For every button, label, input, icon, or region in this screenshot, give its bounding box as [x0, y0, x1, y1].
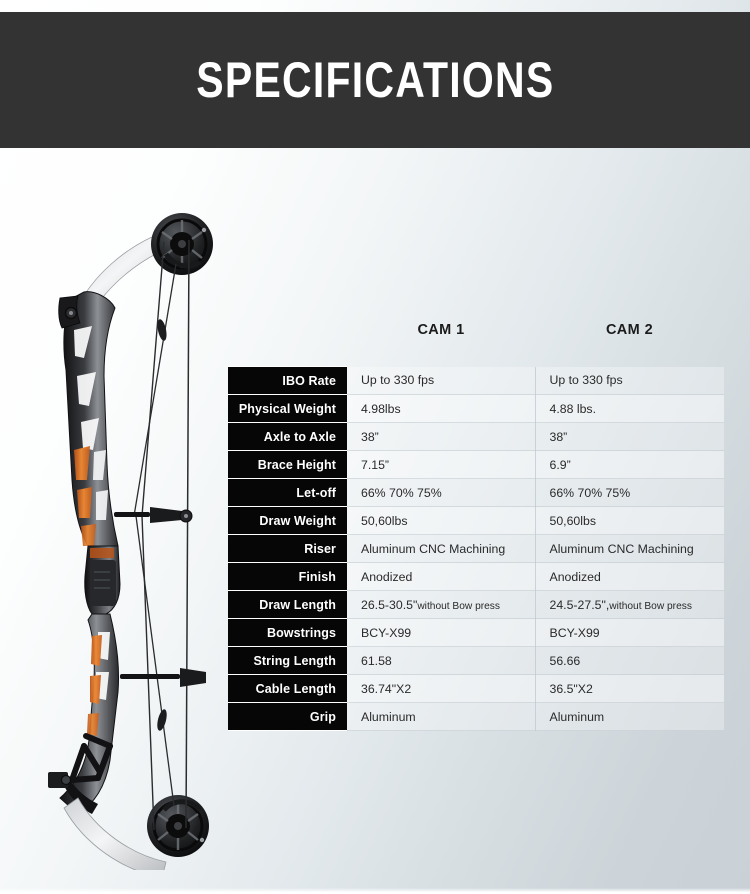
row-value-cam1: 7.15”	[347, 451, 535, 479]
upper-riser	[59, 292, 118, 546]
draw-length-cam2-main: 24.5-27.5",	[550, 598, 610, 612]
string-serving	[155, 318, 168, 731]
row-value-cam1: Up to 330 fps	[347, 367, 535, 395]
row-value-cam1: 36.74"X2	[347, 675, 535, 703]
table-body: IBO Rate Up to 330 fps Up to 330 fps Phy…	[228, 367, 724, 731]
stabilizer-mount	[120, 668, 206, 687]
row-label: Physical Weight	[228, 395, 347, 423]
table-row: Bowstrings BCY-X99 BCY-X99	[228, 619, 724, 647]
specifications-page: SPECIFICATIONS	[0, 0, 750, 894]
table-row: Axle to Axle 38” 38”	[228, 423, 724, 451]
row-value-cam2: 56.66	[535, 647, 724, 675]
table-column-headers: CAM 1 CAM 2	[228, 318, 724, 366]
row-value-cam2: 6.9”	[535, 451, 724, 479]
row-value-cam2: 4.88 lbs.	[535, 395, 724, 423]
row-value-cam2: 66% 70% 75%	[535, 479, 724, 507]
row-value-cam2: Aluminum CNC Machining	[535, 535, 724, 563]
row-label: Draw Weight	[228, 507, 347, 535]
table-row: Cable Length 36.74"X2 36.5"X2	[228, 675, 724, 703]
row-value-cam2: 38”	[535, 423, 724, 451]
lower-cam	[147, 795, 209, 857]
row-value-cam2: Anodized	[535, 563, 724, 591]
row-value-cam1: Aluminum CNC Machining	[347, 535, 535, 563]
column-header-cam2: CAM 2	[535, 322, 724, 338]
row-label: Brace Height	[228, 451, 347, 479]
row-value-cam1: 26.5-30.5"without Bow press	[347, 591, 535, 619]
bow-grip	[85, 546, 120, 614]
row-value-cam2: BCY-X99	[535, 619, 724, 647]
table-row: Grip Aluminum Aluminum	[228, 703, 724, 731]
specifications-table: IBO Rate Up to 330 fps Up to 330 fps Phy…	[228, 366, 724, 731]
draw-length-cam1-note: without Bow press	[417, 601, 500, 612]
table-row: String Length 61.58 56.66	[228, 647, 724, 675]
row-value-cam2: 24.5-27.5",without Bow press	[535, 591, 724, 619]
row-label: Cable Length	[228, 675, 347, 703]
row-label: Grip	[228, 703, 347, 731]
row-value-cam1: BCY-X99	[347, 619, 535, 647]
table-row: Riser Aluminum CNC Machining Aluminum CN…	[228, 535, 724, 563]
table-row: Finish Anodized Anodized	[228, 563, 724, 591]
row-label: IBO Rate	[228, 367, 347, 395]
table-row: Brace Height 7.15” 6.9”	[228, 451, 724, 479]
table-row: Draw Weight 50,60lbs 50,60lbs	[228, 507, 724, 535]
row-label: String Length	[228, 647, 347, 675]
page-header-banner: SPECIFICATIONS	[0, 12, 750, 148]
row-label: Finish	[228, 563, 347, 591]
column-header-cam1: CAM 1	[347, 322, 535, 338]
arrow-rest	[114, 507, 192, 523]
page-title: SPECIFICATIONS	[196, 55, 554, 105]
row-value-cam2: Up to 330 fps	[535, 367, 724, 395]
table-row: Let-off 66% 70% 75% 66% 70% 75%	[228, 479, 724, 507]
row-label: Bowstrings	[228, 619, 347, 647]
draw-length-cam1-main: 26.5-30.5"	[361, 598, 417, 612]
row-value-cam2: 36.5"X2	[535, 675, 724, 703]
row-label: Let-off	[228, 479, 347, 507]
lower-riser	[48, 614, 119, 814]
row-label: Draw Length	[228, 591, 347, 619]
row-label: Axle to Axle	[228, 423, 347, 451]
table-row: Draw Length 26.5-30.5"without Bow press …	[228, 591, 724, 619]
row-value-cam2: 50,60lbs	[535, 507, 724, 535]
row-value-cam1: 61.58	[347, 647, 535, 675]
bow-illustration	[14, 180, 244, 870]
upper-cam	[151, 213, 213, 275]
row-value-cam1: Anodized	[347, 563, 535, 591]
row-label: Riser	[228, 535, 347, 563]
specifications-table-block: CAM 1 CAM 2 IBO Rate Up to 330 fps Up to…	[228, 318, 724, 731]
draw-length-cam2-note: without Bow press	[609, 601, 692, 612]
row-value-cam1: 50,60lbs	[347, 507, 535, 535]
table-row: IBO Rate Up to 330 fps Up to 330 fps	[228, 367, 724, 395]
table-row: Physical Weight 4.98lbs 4.88 lbs.	[228, 395, 724, 423]
row-value-cam1: 66% 70% 75%	[347, 479, 535, 507]
row-value-cam1: Aluminum	[347, 703, 535, 731]
compound-bow-image	[14, 180, 244, 870]
row-value-cam2: Aluminum	[535, 703, 724, 731]
row-value-cam1: 38”	[347, 423, 535, 451]
row-value-cam1: 4.98lbs	[347, 395, 535, 423]
